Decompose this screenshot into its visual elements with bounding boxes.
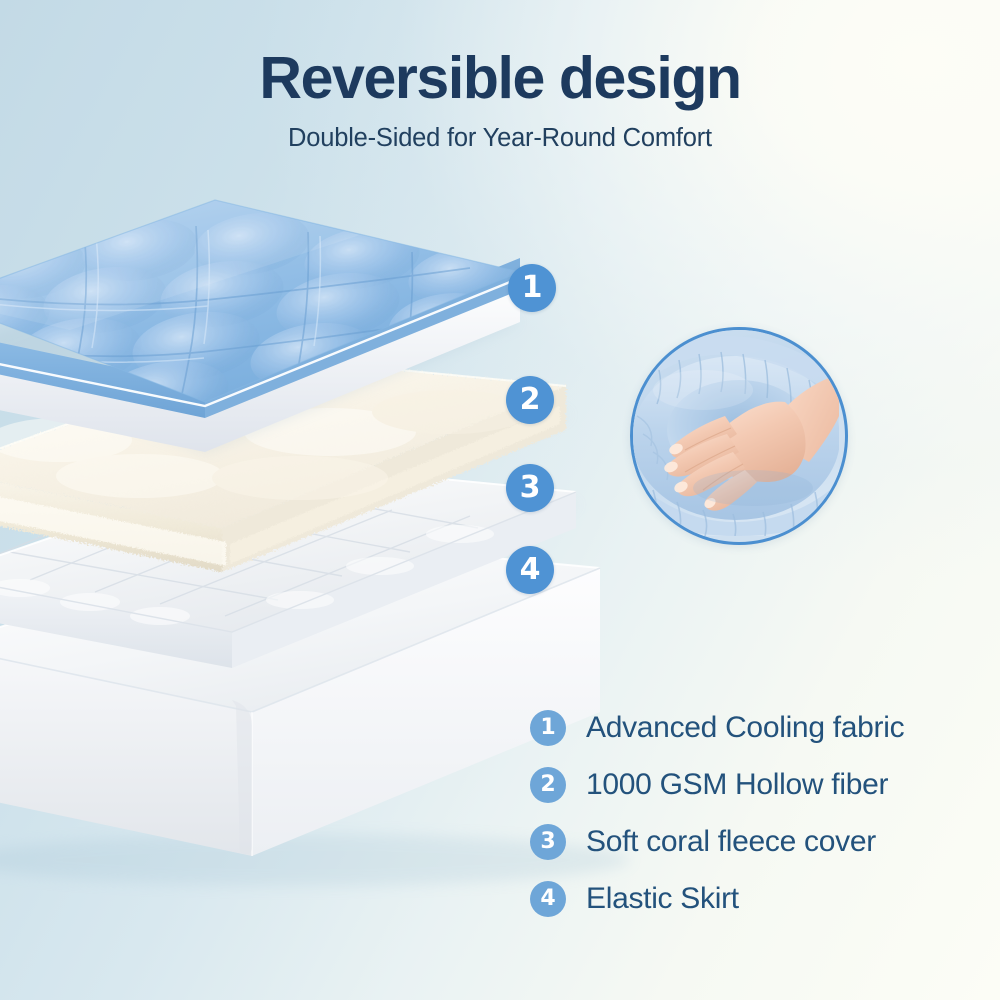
product-infographic: Reversible design Double-Sided for Year-… bbox=[0, 0, 1000, 1000]
detail-inset-hand-press bbox=[630, 327, 848, 545]
layer-badge-2[interactable]: 2 bbox=[506, 376, 554, 424]
list-item[interactable]: 1 Advanced Cooling fabric bbox=[530, 699, 904, 756]
layer-badge-1[interactable]: 1 bbox=[508, 264, 556, 312]
legend-badge-4: 4 bbox=[530, 881, 566, 917]
layer-badge-4[interactable]: 4 bbox=[506, 546, 554, 594]
list-item[interactable]: 4 Elastic Skirt bbox=[530, 870, 904, 927]
legend-list: 1 Advanced Cooling fabric 2 1000 GSM Hol… bbox=[530, 699, 904, 927]
legend-label-3: Soft coral fleece cover bbox=[586, 825, 876, 859]
legend-label-1: Advanced Cooling fabric bbox=[586, 711, 904, 745]
legend-label-4: Elastic Skirt bbox=[586, 882, 739, 916]
list-item[interactable]: 2 1000 GSM Hollow fiber bbox=[530, 756, 904, 813]
legend-badge-3: 3 bbox=[530, 824, 566, 860]
header-block: Reversible design Double-Sided for Year-… bbox=[0, 48, 1000, 153]
list-item[interactable]: 3 Soft coral fleece cover bbox=[530, 813, 904, 870]
page-subtitle: Double-Sided for Year-Round Comfort bbox=[0, 124, 1000, 153]
legend-label-2: 1000 GSM Hollow fiber bbox=[586, 768, 888, 802]
legend-badge-1: 1 bbox=[530, 710, 566, 746]
page-title: Reversible design bbox=[0, 48, 1000, 110]
legend-badge-2: 2 bbox=[530, 767, 566, 803]
layer-badge-3[interactable]: 3 bbox=[506, 464, 554, 512]
